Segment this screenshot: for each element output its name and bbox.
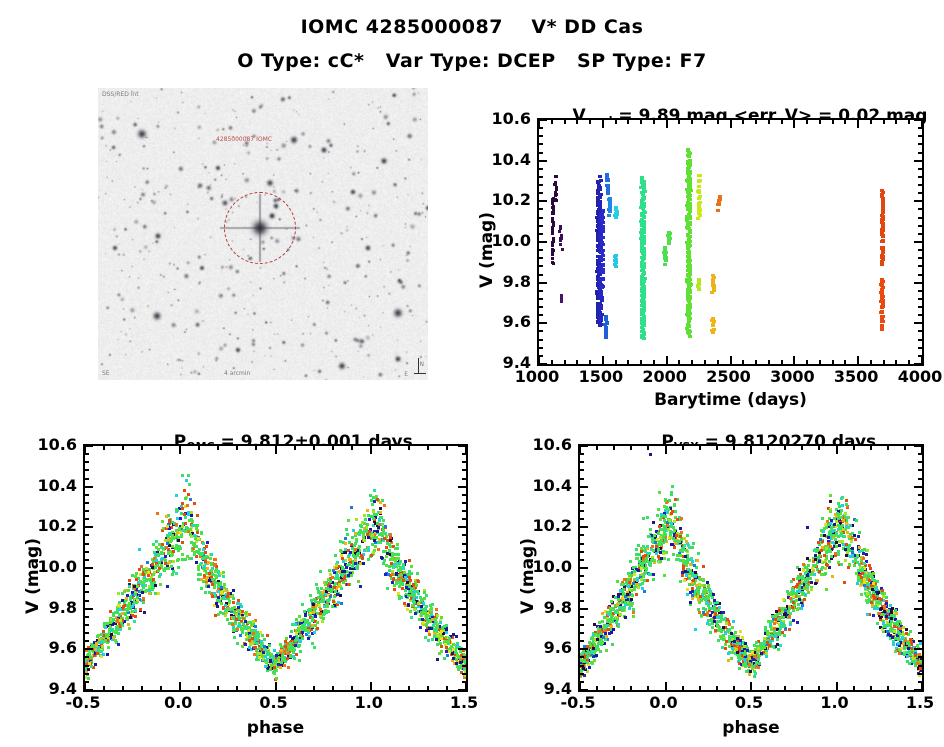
finder-corner-label-bottomleft: SE — [102, 370, 110, 377]
data-point — [696, 559, 699, 562]
data-point — [152, 573, 155, 576]
data-point — [819, 538, 822, 541]
data-point — [642, 188, 646, 191]
data-point — [207, 585, 210, 588]
x-tick-minor — [870, 120, 872, 124]
x-tick-minor — [691, 120, 693, 124]
data-point — [177, 536, 180, 539]
data-point — [807, 591, 810, 594]
x-tick-minor — [217, 446, 219, 450]
data-point — [379, 501, 382, 504]
timeseries-x-axis-title: Barytime (days) — [537, 390, 924, 410]
data-point — [875, 588, 878, 591]
data-point — [295, 653, 298, 656]
data-point — [221, 597, 224, 600]
data-point — [551, 241, 554, 244]
data-point — [184, 522, 187, 525]
data-point — [598, 200, 602, 203]
data-point — [447, 640, 450, 643]
data-point — [880, 324, 884, 327]
data-point — [601, 216, 605, 219]
data-point — [662, 251, 666, 254]
data-point — [281, 655, 284, 658]
data-point — [90, 665, 93, 668]
timeseries-plot-area — [539, 120, 922, 364]
data-point — [641, 328, 645, 331]
data-point — [254, 625, 257, 628]
y-tick-minor — [462, 551, 466, 553]
data-point — [162, 527, 165, 530]
data-point — [298, 644, 301, 647]
data-point — [732, 620, 735, 623]
data-point — [121, 599, 124, 602]
data-point — [111, 623, 114, 626]
data-point — [311, 624, 314, 627]
y-tick-minor — [918, 135, 922, 137]
data-point — [370, 499, 373, 502]
phase-vsx-plot-frame — [578, 444, 924, 692]
data-point — [642, 220, 646, 223]
data-point — [391, 552, 394, 555]
data-point — [196, 524, 199, 527]
data-point — [388, 543, 391, 546]
data-point — [416, 572, 419, 575]
x-tick-minor — [255, 686, 257, 690]
data-point — [798, 568, 801, 571]
data-point — [829, 510, 832, 513]
data-point — [223, 583, 226, 586]
data-point — [114, 611, 117, 614]
x-tick-minor — [895, 120, 897, 124]
y-tick-minor — [918, 233, 922, 235]
x-tick-minor — [806, 120, 808, 124]
data-point — [599, 179, 603, 182]
data-point — [406, 608, 409, 611]
data-point — [104, 639, 107, 642]
x-tick-major — [370, 446, 372, 454]
data-point — [258, 656, 261, 659]
x-tick-major — [275, 682, 277, 690]
data-point — [421, 618, 424, 621]
data-point — [196, 531, 199, 534]
data-point — [236, 628, 239, 631]
y-tick-minor — [85, 632, 89, 634]
data-point — [642, 319, 646, 322]
data-point — [859, 579, 862, 582]
y-tick-major — [85, 648, 93, 650]
data-point — [338, 583, 341, 586]
data-point — [876, 622, 879, 625]
data-point — [104, 626, 107, 629]
data-point — [431, 638, 434, 641]
data-point — [335, 567, 338, 570]
data-point — [160, 558, 163, 561]
data-point — [351, 536, 354, 539]
data-point — [331, 576, 334, 579]
data-point — [351, 565, 354, 568]
data-point — [440, 645, 443, 648]
data-point — [205, 572, 208, 575]
data-point — [856, 582, 859, 585]
data-point — [555, 175, 558, 178]
data-point — [353, 544, 356, 547]
x-tick-major — [602, 356, 604, 364]
y-tick-minor — [539, 290, 543, 292]
data-point — [881, 229, 885, 232]
data-point — [327, 600, 330, 603]
data-point — [814, 564, 817, 567]
data-point — [164, 539, 167, 542]
y-tick-major — [539, 282, 547, 284]
data-point — [689, 601, 692, 604]
data-point — [714, 629, 717, 632]
data-point — [658, 491, 661, 494]
y-tick-major — [914, 282, 922, 284]
data-point — [213, 586, 216, 589]
data-point — [391, 558, 394, 561]
data-point — [117, 643, 120, 646]
data-point — [642, 196, 646, 199]
data-point — [692, 542, 695, 545]
data-point — [138, 548, 141, 551]
data-point — [129, 616, 132, 619]
y-tick-minor — [539, 249, 543, 251]
data-point — [880, 315, 884, 318]
data-point — [370, 554, 373, 557]
data-point — [341, 557, 344, 560]
x-tick-minor — [198, 686, 200, 690]
data-point — [334, 554, 337, 557]
data-point — [646, 516, 649, 519]
data-point — [894, 650, 897, 653]
x-tick-minor — [103, 686, 105, 690]
data-point — [608, 200, 612, 203]
y-tick-minor — [85, 494, 89, 496]
data-point — [840, 563, 843, 566]
data-point — [290, 630, 293, 633]
finder-corner-label-topleft: DSS/RED int — [102, 91, 139, 98]
data-point — [96, 652, 99, 655]
data-point — [179, 517, 182, 520]
y-tick-minor — [539, 168, 543, 170]
data-point — [188, 483, 191, 486]
data-point — [846, 531, 849, 534]
data-point — [180, 512, 183, 515]
data-point — [792, 619, 795, 622]
data-point — [680, 531, 683, 534]
data-point — [258, 647, 261, 650]
data-point — [357, 580, 360, 583]
y-tick-major — [85, 689, 93, 691]
data-point — [880, 294, 884, 297]
data-point — [664, 539, 667, 542]
data-point — [600, 270, 604, 273]
data-point — [154, 553, 157, 556]
data-point — [252, 632, 255, 635]
data-point — [601, 249, 605, 252]
data-point — [552, 237, 555, 240]
data-point — [142, 586, 145, 589]
data-point — [347, 519, 350, 522]
data-point — [390, 562, 393, 565]
y-tick-minor — [918, 306, 922, 308]
x-tick-minor — [236, 446, 238, 450]
data-point — [717, 200, 721, 203]
data-point — [688, 210, 692, 213]
data-point — [667, 241, 671, 244]
data-point — [313, 598, 316, 601]
data-point — [175, 572, 178, 575]
data-point — [121, 624, 124, 627]
data-point — [309, 609, 312, 612]
data-point — [379, 511, 382, 514]
data-point — [438, 652, 441, 655]
data-point — [151, 584, 154, 587]
data-point — [423, 591, 426, 594]
data-point — [205, 545, 208, 548]
data-point — [377, 526, 380, 529]
data-point — [226, 595, 229, 598]
data-point — [241, 627, 244, 630]
data-point — [172, 560, 175, 563]
x-tick-major — [793, 356, 795, 364]
data-point — [881, 239, 885, 242]
data-point — [177, 566, 180, 569]
data-point — [821, 517, 824, 520]
data-point — [688, 159, 692, 162]
y-tick-minor — [85, 559, 89, 561]
x-tick-minor — [389, 686, 391, 690]
data-point — [337, 601, 340, 604]
data-point — [440, 637, 443, 640]
data-point — [355, 518, 358, 521]
y-tick-major — [85, 486, 93, 488]
y-tick-minor — [462, 632, 466, 634]
data-point — [597, 184, 601, 187]
data-point — [181, 553, 184, 556]
data-point — [347, 583, 350, 586]
data-point — [377, 548, 380, 551]
data-point — [166, 525, 169, 528]
x-tick-minor — [768, 360, 770, 364]
y-tick-minor — [462, 453, 466, 455]
data-point — [716, 625, 719, 628]
data-point — [667, 231, 671, 234]
data-point — [368, 518, 371, 521]
y-tick-minor — [539, 265, 543, 267]
y-tick-major — [914, 200, 922, 202]
data-point — [649, 528, 652, 531]
y-tick-major — [458, 608, 466, 610]
data-point — [870, 601, 873, 604]
data-point — [332, 600, 335, 603]
data-point — [260, 640, 263, 643]
data-point — [99, 641, 102, 644]
data-point — [266, 634, 269, 637]
data-point — [413, 608, 416, 611]
data-point — [401, 583, 404, 586]
data-point — [820, 549, 823, 552]
data-point — [195, 561, 198, 564]
y-tick-minor — [539, 143, 543, 145]
y-tick-minor — [462, 624, 466, 626]
data-point — [697, 205, 701, 208]
data-point — [698, 201, 702, 204]
data-point — [604, 318, 608, 321]
data-point — [318, 604, 321, 607]
y-tick-minor — [539, 192, 543, 194]
data-point — [272, 655, 275, 658]
y-tick-minor — [85, 453, 89, 455]
x-tick-minor — [678, 360, 680, 364]
y-tick-major — [539, 322, 547, 324]
y-tick-minor — [539, 330, 543, 332]
data-point — [809, 577, 812, 580]
data-point — [296, 629, 299, 632]
x-tick-minor — [313, 446, 315, 450]
data-point — [830, 519, 833, 522]
data-point — [698, 195, 702, 198]
data-point — [824, 567, 827, 570]
data-point — [357, 532, 360, 535]
data-point — [641, 322, 645, 325]
compass-north-arrow-icon — [418, 358, 419, 374]
data-point — [837, 553, 840, 556]
y-tick-minor — [918, 217, 922, 219]
data-point — [248, 613, 251, 616]
data-point — [641, 269, 645, 272]
data-point — [821, 540, 824, 543]
data-point — [601, 209, 605, 212]
data-point — [342, 581, 345, 584]
data-point — [560, 294, 563, 297]
data-point — [866, 613, 869, 616]
data-point — [198, 548, 201, 551]
data-point — [716, 209, 720, 212]
y-tick-minor — [462, 510, 466, 512]
data-point — [697, 552, 700, 555]
data-point — [431, 618, 434, 621]
data-point — [206, 541, 209, 544]
data-point — [833, 523, 836, 526]
x-tick-minor — [313, 686, 315, 690]
x-tick-minor — [717, 120, 719, 124]
data-point — [697, 189, 701, 192]
data-point — [177, 558, 180, 561]
data-point — [237, 615, 240, 618]
data-point — [162, 547, 165, 550]
y-tick-major — [914, 363, 922, 365]
data-point — [371, 543, 374, 546]
data-point — [211, 578, 214, 581]
y-tick-major — [458, 567, 466, 569]
y-tick-minor — [85, 673, 89, 675]
data-point — [187, 493, 190, 496]
x-tick-minor — [103, 446, 105, 450]
data-point — [228, 601, 231, 604]
data-point — [142, 573, 145, 576]
data-point — [445, 631, 448, 634]
x-tick-minor — [576, 360, 578, 364]
data-point — [189, 498, 192, 501]
data-point — [410, 572, 413, 575]
data-point — [275, 659, 278, 662]
data-point — [688, 235, 692, 238]
data-point — [117, 604, 120, 607]
x-tick-major — [666, 356, 668, 364]
data-point — [291, 623, 294, 626]
data-point — [853, 564, 856, 567]
y-tick-minor — [918, 330, 922, 332]
data-point — [184, 497, 187, 500]
data-point — [203, 565, 206, 568]
data-point — [385, 564, 388, 567]
y-tick-minor — [539, 233, 543, 235]
data-point — [87, 677, 90, 680]
data-point — [601, 268, 605, 271]
data-point — [709, 614, 712, 617]
x-tick-minor — [551, 120, 553, 124]
data-point — [604, 330, 608, 333]
data-point — [187, 530, 190, 533]
data-point — [232, 601, 235, 604]
data-point — [367, 514, 370, 517]
data-point — [600, 286, 604, 289]
y-tick-major — [85, 567, 93, 569]
data-point — [601, 225, 605, 228]
data-point — [217, 590, 220, 593]
data-point — [898, 652, 901, 655]
data-point — [106, 634, 109, 637]
data-point — [712, 287, 716, 290]
data-point — [259, 652, 262, 655]
data-point — [427, 639, 430, 642]
data-point — [201, 552, 204, 555]
x-tick-minor — [704, 120, 706, 124]
data-point — [339, 540, 342, 543]
data-point — [611, 643, 614, 646]
data-point — [646, 579, 649, 582]
data-point — [852, 560, 855, 563]
figure-page: IOMC 4285000087 V* DD Cas O Type: cC* Va… — [0, 0, 944, 747]
data-point — [642, 309, 646, 312]
data-point — [671, 485, 674, 488]
data-point — [412, 594, 415, 597]
data-point — [157, 592, 160, 595]
data-point — [419, 626, 422, 629]
data-point — [128, 627, 131, 630]
data-point — [561, 248, 564, 251]
x-tick-major — [666, 120, 668, 128]
data-point — [181, 525, 184, 528]
data-point — [855, 519, 858, 522]
data-point — [844, 559, 847, 562]
y-tick-minor — [85, 624, 89, 626]
data-point — [148, 592, 151, 595]
data-point — [295, 632, 298, 635]
data-point — [383, 559, 386, 562]
timeseries-plot-frame — [537, 118, 924, 366]
data-point — [880, 255, 884, 258]
data-point — [606, 192, 610, 195]
data-point — [253, 653, 256, 656]
data-point — [354, 559, 357, 562]
data-point — [147, 574, 150, 577]
data-point — [116, 620, 119, 623]
data-point — [171, 553, 174, 556]
data-point — [829, 494, 832, 497]
data-point — [607, 198, 611, 201]
